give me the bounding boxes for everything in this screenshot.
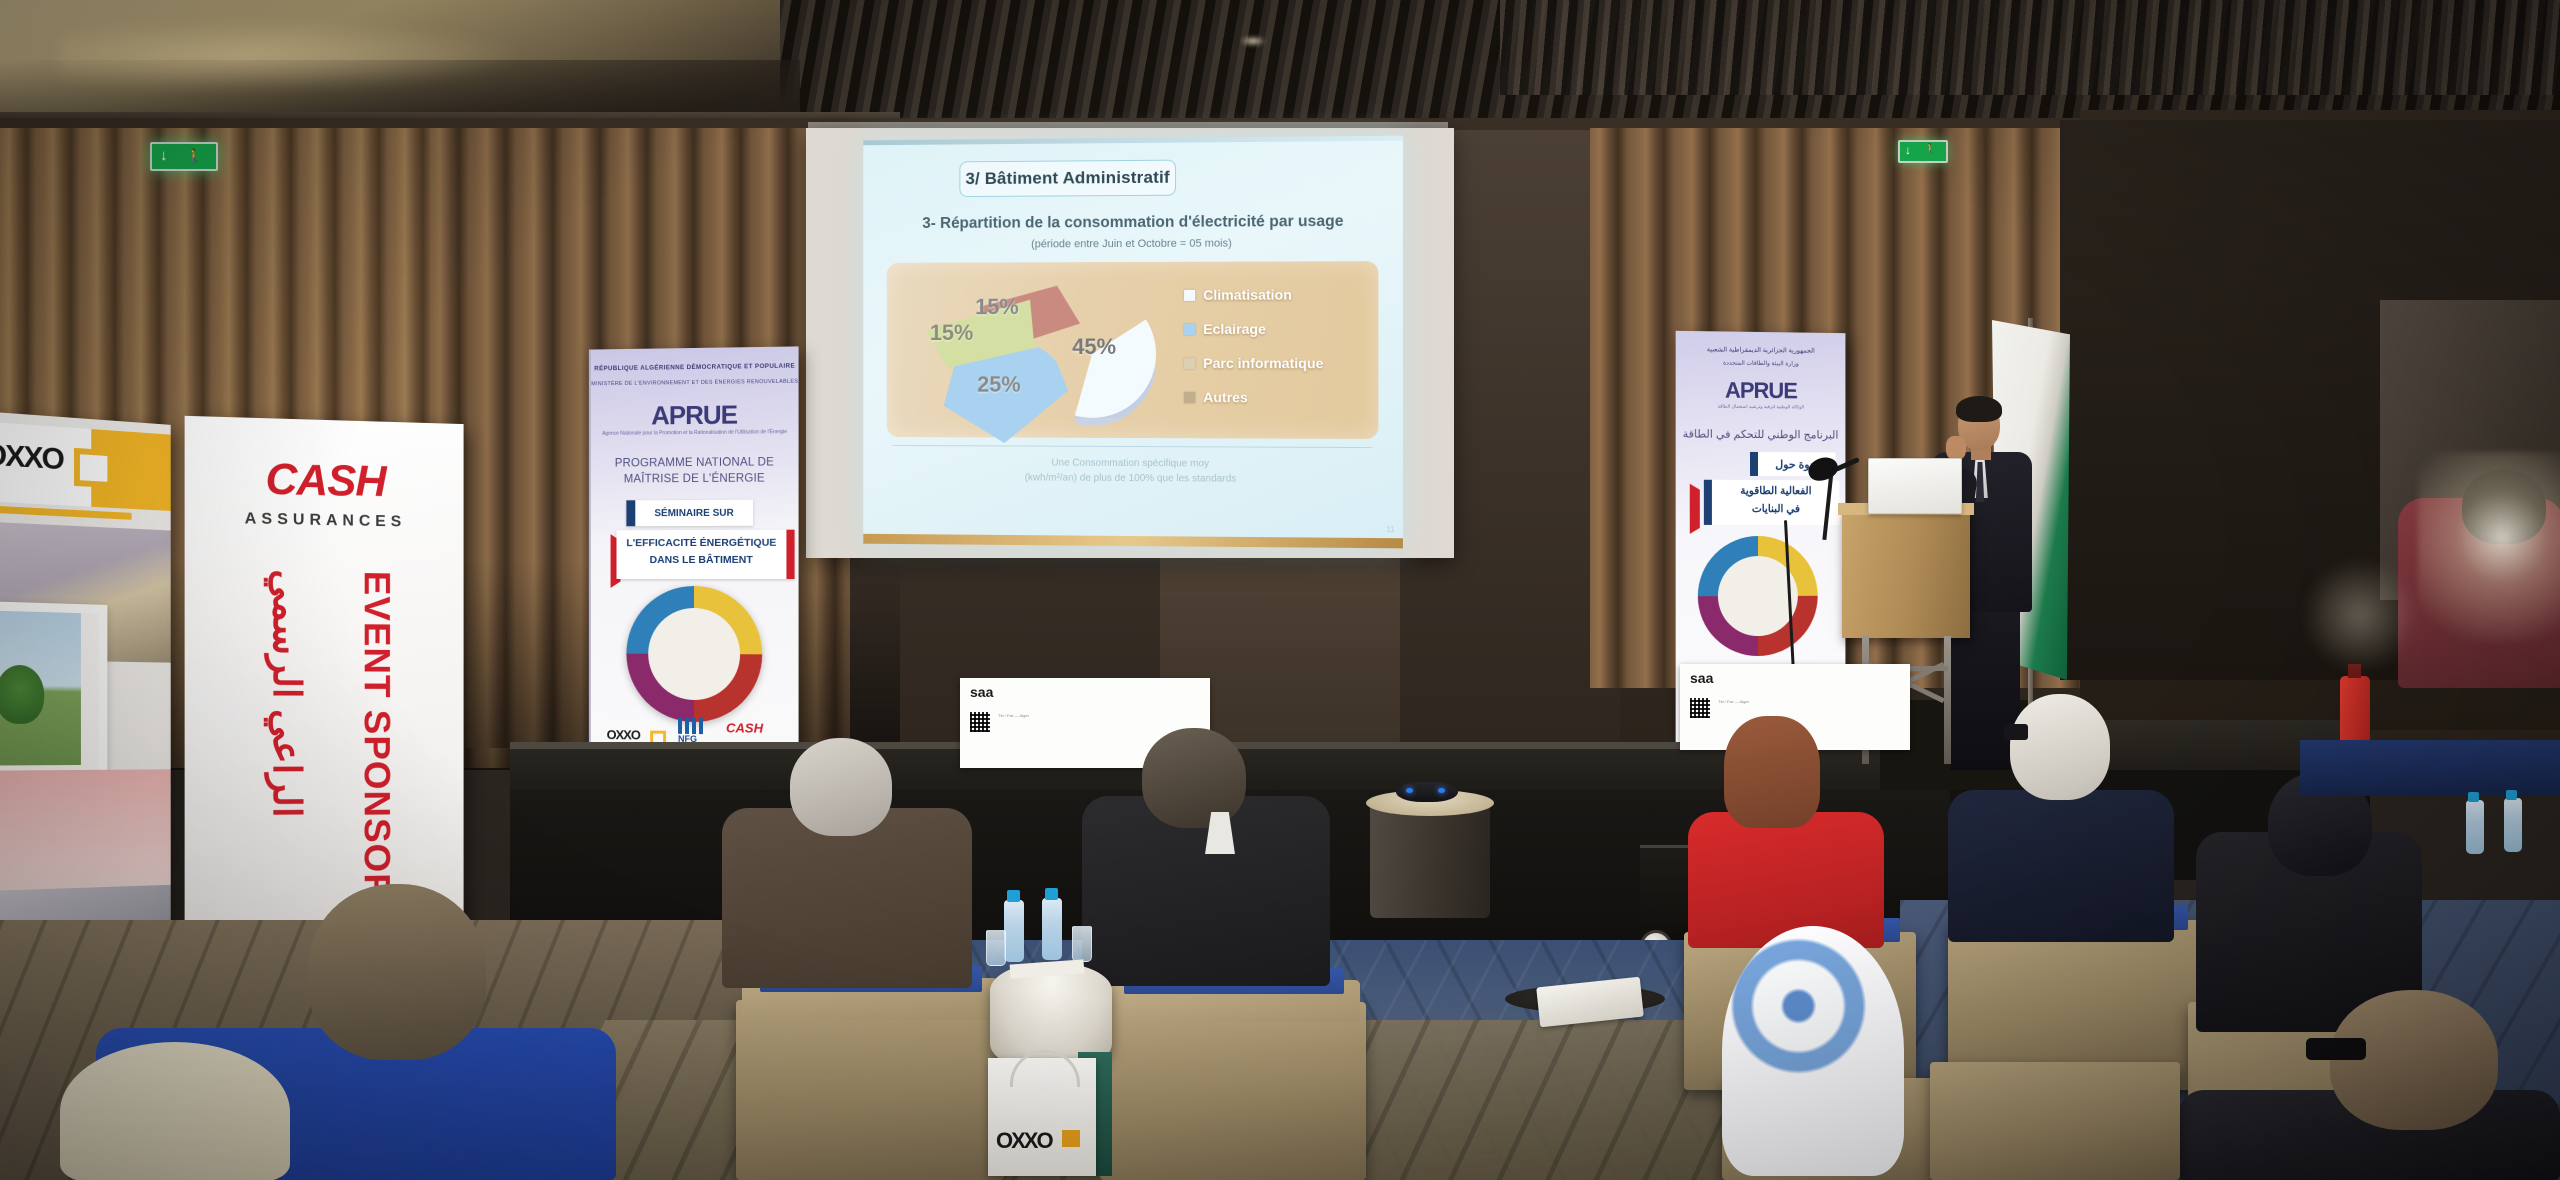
- speaker-hair: [1956, 396, 2002, 422]
- ceiling-cove-light: [60, 20, 520, 90]
- oxxo-logo-square-icon: [74, 448, 113, 488]
- aprue-event-label: SÉMINAIRE SUR: [654, 507, 733, 518]
- conference-microphone: [1396, 782, 1458, 802]
- pie-value-parc-informatique: 15%: [930, 320, 973, 346]
- sponsor-logo-saa: saa: [1690, 670, 1713, 686]
- slide-footer-note: Une Consommation spécifique moy (kwh/m²/…: [902, 455, 1362, 488]
- eyeglasses-icon: [2306, 1038, 2366, 1060]
- armchair[interactable]: [1100, 1002, 1366, 1180]
- water-bottle[interactable]: [2504, 798, 2522, 852]
- gift-bag-logo: OXXO: [996, 1128, 1052, 1154]
- chart-legend: Climatisation Eclairage Parc informatiqu…: [1184, 277, 1376, 414]
- podium: [1842, 510, 1970, 638]
- drinking-glass[interactable]: [986, 930, 1006, 966]
- pie-value-eclairage: 25%: [977, 372, 1021, 398]
- audience-person-torso: [1688, 812, 1884, 948]
- sponsor-sign-contact: Tél / Fax — Alger: [998, 712, 1029, 720]
- drinking-glass[interactable]: [1072, 926, 1092, 962]
- ceiling-slat-panel-secondary: [1500, 0, 2560, 95]
- aprue-ar-event-title-line2: في البنايات: [1712, 501, 1840, 519]
- slide-section-tag: 3/ Bâtiment Administratif: [959, 160, 1176, 197]
- audience-person-headscarf: [1722, 926, 1904, 1176]
- legend-swatch-icon: [1184, 323, 1195, 334]
- oxxo-square-icon: [1062, 1130, 1080, 1147]
- slide-section-tag-label: 3/ Bâtiment Administratif: [965, 168, 1169, 189]
- nfg-bars-icon: [678, 718, 704, 734]
- legend-item-parc-informatique: Parc informatique: [1184, 346, 1376, 380]
- tree-icon: [0, 665, 44, 724]
- aprue-ar-logo-text: APRUE: [1676, 377, 1846, 405]
- pie-chart-panel: 45% 25% 15% 15% Climatisation Eclairage …: [887, 261, 1379, 439]
- cash-logo-subtitle: ASSURANCES: [185, 509, 464, 533]
- aprue-event-title-line1: L'EFFICACITÉ ÉNERGÉTIQUE: [616, 535, 786, 552]
- slide-footer-line2: (kwh/m²/an) de plus de 100% que les stan…: [902, 470, 1362, 488]
- speaker-hand-holding-mic: [1946, 436, 1966, 460]
- emergency-exit-sign-secondary: ↓ 🚶: [1898, 140, 1948, 163]
- water-bottle[interactable]: [2466, 800, 2484, 854]
- aprue-republic-line: RÉPUBLIQUE ALGÉRIENNE DÉMOCRATIQUE ET PO…: [591, 363, 799, 373]
- pie-value-climatisation: 45%: [1072, 334, 1116, 360]
- slide-heading: 3- Répartition de la consommation d'élec…: [889, 213, 1379, 233]
- slide-page-number: 11: [1386, 525, 1394, 534]
- mic-led-indicator: [1406, 788, 1413, 793]
- audience-person-head: [1724, 716, 1820, 828]
- aprue-event-label-box: SÉMINAIRE SUR: [626, 500, 753, 527]
- audience-person-head: [2330, 990, 2498, 1130]
- water-bottle[interactable]: [1042, 898, 1062, 960]
- bottle-cap-icon: [2468, 792, 2479, 802]
- aprue-event-title-line2: DANS LE BÂTIMENT: [616, 552, 786, 569]
- armchair[interactable]: [736, 1000, 1004, 1180]
- ceiling-spotlight: [1240, 36, 1266, 46]
- exit-arrow-icon: ↓: [1905, 144, 1911, 156]
- audience-person-torso: [1948, 790, 2174, 942]
- bottle-cap-icon: [2506, 790, 2517, 800]
- audience-person-head: [2462, 470, 2546, 544]
- conference-room-photo: ↓ 🚶 ↓ 🚶 3/ Bâtiment Administratif 3- Rép…: [0, 0, 2560, 1180]
- aprue-ar-ministry-line: وزارة البيئة والطاقات المتجددة: [1676, 359, 1846, 368]
- side-table: [1370, 800, 1490, 918]
- banner-aprue-french: RÉPUBLIQUE ALGÉRIENNE DÉMOCRATIQUE ET PO…: [589, 346, 799, 807]
- aprue-event-title-box: L'EFFICACITÉ ÉNERGÉTIQUE DANS LE BÂTIMEN…: [616, 530, 794, 579]
- eyeglasses-icon: [2004, 724, 2028, 740]
- aprue-ministry-line: MINISTÈRE DE L'ENVIRONNEMENT ET DES ÉNER…: [591, 379, 799, 388]
- running-person-icon: 🚶: [186, 149, 202, 162]
- armchair[interactable]: [1930, 1062, 2180, 1180]
- mic-led-indicator: [1438, 788, 1445, 793]
- aprue-ar-red-chevron: [1690, 484, 1700, 534]
- audience-person-head: [2010, 694, 2110, 800]
- aprue-logo-subtitle: Agence Nationale pour la Promotion et la…: [591, 429, 799, 438]
- aprue-ar-event-title-line1: الفعالية الطاقوية: [1712, 483, 1840, 501]
- sponsor-logo-saa: saa: [970, 684, 993, 700]
- presentation-slide: 3/ Bâtiment Administratif 3- Répartition…: [863, 136, 1403, 549]
- aprue-color-wheel-center: [648, 608, 740, 700]
- sponsor-sign-contact: Tél / Fax — Alger: [1718, 698, 1749, 706]
- slide-divider: [893, 445, 1373, 448]
- legend-item-autres: Autres: [1184, 380, 1376, 415]
- pie-value-autres: 15%: [975, 294, 1019, 320]
- legend-label: Autres: [1203, 389, 1248, 405]
- aprue-ar-logo-subtitle: الوكالة الوطنية لترقية وترشيد استعمال ال…: [1676, 403, 1846, 411]
- audience-person-head: [308, 884, 486, 1060]
- aprue-logo-text: APRUE: [591, 399, 799, 432]
- oxxo-logo-text: OXXO: [0, 438, 63, 477]
- water-bottle[interactable]: [1004, 900, 1024, 962]
- aprue-ar-republic-line: الجمهورية الجزائرية الديمقراطية الشعبية: [1676, 345, 1846, 355]
- sponsor-logo-cash: CASH: [726, 720, 763, 735]
- audience-person-headscarf: [60, 1042, 290, 1180]
- slide-subheading: (période entre Juin et Octobre = 05 mois…: [889, 237, 1379, 251]
- legend-label: Parc informatique: [1203, 355, 1323, 371]
- legend-item-climatisation: Climatisation: [1184, 277, 1376, 312]
- audience-person-head: [1142, 728, 1246, 828]
- legend-swatch-icon: [1184, 358, 1195, 369]
- aprue-ar-program-title: البرنامج الوطني للتحكم في الطاقة: [1676, 427, 1846, 441]
- qr-code-icon: [970, 712, 990, 732]
- presenter-laptop[interactable]: [1868, 458, 1962, 514]
- pie-chart: 45% 25% 15% 15%: [914, 272, 1172, 430]
- legend-swatch-icon: [1184, 289, 1195, 300]
- aprue-program-title: PROGRAMME NATIONAL DE MAÎTRISE DE L'ÉNER…: [591, 455, 799, 487]
- cash-logo-text: CASH: [185, 452, 464, 509]
- exit-arrow-icon: ↓: [160, 148, 168, 163]
- cash-sponsor-text-arabic: الراعي الرسمي: [264, 569, 308, 901]
- sponsor-logo-oxxo: OXXO: [607, 727, 640, 742]
- lens-flare-secondary: [2300, 560, 2420, 670]
- aprue-ar-event-title-box: الفعالية الطاقوية في البنايات: [1704, 480, 1840, 525]
- legend-label: Eclairage: [1203, 321, 1266, 337]
- emergency-exit-sign: ↓ 🚶: [150, 142, 218, 171]
- qr-code-icon: [1690, 698, 1710, 718]
- legend-label: Climatisation: [1203, 287, 1292, 303]
- audience-person-head: [790, 738, 892, 836]
- stage-skirt-blue: [2300, 740, 2560, 796]
- bottle-cap-icon: [1045, 888, 1058, 900]
- legend-item-eclairage: Eclairage: [1184, 312, 1376, 346]
- running-person-icon: 🚶: [1924, 145, 1936, 155]
- legend-swatch-icon: [1184, 392, 1195, 403]
- fire-extinguisher: [2340, 676, 2370, 746]
- bottle-cap-icon: [1007, 890, 1020, 902]
